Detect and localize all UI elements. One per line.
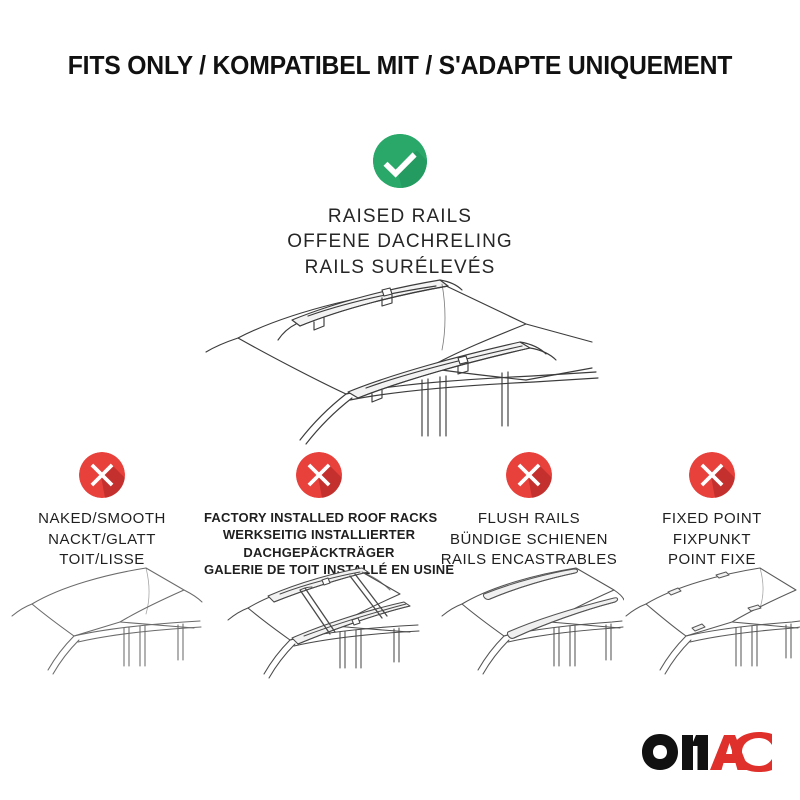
incompatible-label-de: NACKT/GLATT	[0, 530, 204, 551]
x-circle-icon	[296, 452, 342, 498]
x-circle-icon	[79, 452, 125, 498]
incompatible-label-en: FACTORY INSTALLED ROOF RACKS	[204, 509, 434, 526]
compatible-label-de: OFFENE DACHRELING	[0, 229, 800, 254]
car-roof-with-raised-rails-illustration	[196, 276, 606, 448]
page-title: FITS ONLY / KOMPATIBEL MIT / S'ADAPTE UN…	[12, 52, 788, 81]
incompatible-label-de: BÜNDIGE SCHIENEN	[434, 530, 624, 551]
compatible-section: RAISED RAILS OFFENE DACHRELING RAILS SUR…	[0, 134, 800, 280]
incompatible-label-en: FIXED POINT	[624, 509, 800, 530]
incompatible-label-en: FLUSH RAILS	[434, 509, 624, 530]
car-roof-with-factory-crossbars-illustration	[204, 556, 434, 684]
header: FITS ONLY / KOMPATIBEL MIT / S'ADAPTE UN…	[0, 52, 800, 81]
car-roof-with-fixed-points-illustration	[624, 556, 800, 684]
incompatible-label-en: NAKED/SMOOTH	[0, 509, 204, 530]
car-roof-bare-illustration	[0, 556, 204, 684]
incompatible-illustrations	[0, 556, 800, 684]
x-circle-icon	[689, 452, 735, 498]
compatible-labels: RAISED RAILS OFFENE DACHRELING RAILS SUR…	[0, 204, 800, 280]
compatible-label-en: RAISED RAILS	[0, 204, 800, 229]
car-roof-with-flush-rails-illustration	[434, 556, 624, 684]
incompatible-label-de-1: WERKSEITIG INSTALLIERTER	[204, 526, 434, 543]
incompatible-label-de: FIXPUNKT	[624, 530, 800, 551]
check-circle-icon	[373, 134, 427, 188]
omac-logo	[640, 732, 774, 772]
x-circle-icon	[506, 452, 552, 498]
